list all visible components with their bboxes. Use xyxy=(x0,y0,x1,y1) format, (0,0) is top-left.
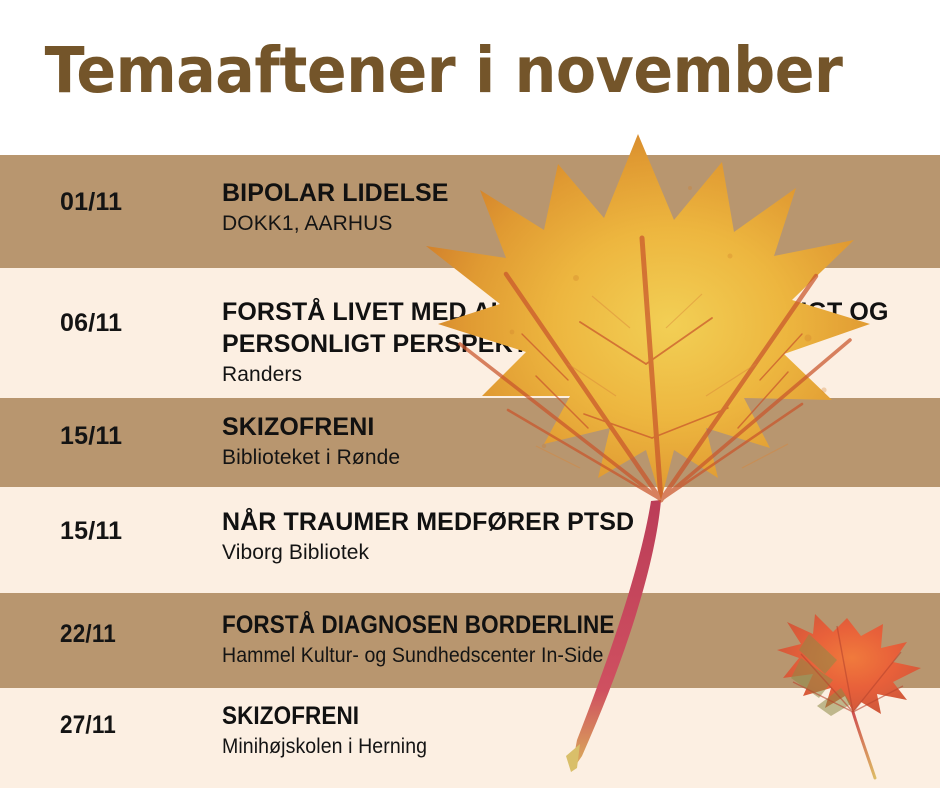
event-date: 15/11 xyxy=(60,422,122,451)
event-title: FORSTÅ LIVET MED AUTISME UD FRA ET FAGLI… xyxy=(222,296,930,360)
event-title: NÅR TRAUMER MEDFØRER PTSD xyxy=(222,506,930,538)
page-title: Temaaftener i november xyxy=(0,39,842,102)
event-body: BIPOLAR LIDELSE DOKK1, AARHUS xyxy=(222,177,930,237)
list-item[interactable]: 06/11 FORSTÅ LIVET MED AUTISME UD FRA ET… xyxy=(0,268,940,398)
event-date: 27/11 xyxy=(60,711,116,740)
event-venue: Minihøjskolen i Herning xyxy=(222,734,880,760)
event-body: NÅR TRAUMER MEDFØRER PTSD Viborg Bibliot… xyxy=(222,506,930,566)
list-item[interactable]: 15/11 NÅR TRAUMER MEDFØRER PTSD Viborg B… xyxy=(0,487,940,593)
event-venue: Biblioteket i Rønde xyxy=(222,445,930,471)
event-body: SKIZOFRENI Minihøjskolen i Herning xyxy=(222,700,930,760)
event-venue: Viborg Bibliotek xyxy=(222,540,930,566)
list-item[interactable]: 15/11 SKIZOFRENI Biblioteket i Rønde xyxy=(0,398,940,487)
poster-canvas: Temaaftener i november 01/11 BIPOLAR LID… xyxy=(0,0,940,788)
event-venue: Randers xyxy=(222,362,930,388)
event-body: FORSTÅ LIVET MED AUTISME UD FRA ET FAGLI… xyxy=(222,296,930,388)
schedule-list: 01/11 BIPOLAR LIDELSE DOKK1, AARHUS 06/1… xyxy=(0,140,940,788)
list-item[interactable]: 27/11 SKIZOFRENI Minihøjskolen i Herning xyxy=(0,688,940,788)
event-date: 06/11 xyxy=(60,309,122,338)
event-date: 22/11 xyxy=(60,620,116,649)
event-venue: DOKK1, AARHUS xyxy=(222,211,930,237)
event-body: FORSTÅ DIAGNOSEN BORDERLINE Hammel Kultu… xyxy=(222,609,930,669)
list-item[interactable]: 01/11 BIPOLAR LIDELSE DOKK1, AARHUS xyxy=(0,155,940,268)
event-date: 15/11 xyxy=(60,517,122,546)
event-date: 01/11 xyxy=(60,188,122,217)
event-title: BIPOLAR LIDELSE xyxy=(222,177,930,209)
event-title: FORSTÅ DIAGNOSEN BORDERLINE xyxy=(222,609,859,641)
event-title: SKIZOFRENI xyxy=(222,411,930,443)
event-title: SKIZOFRENI xyxy=(222,700,859,732)
poster-header: Temaaftener i november xyxy=(0,0,940,140)
event-venue: Hammel Kultur- og Sundhedscenter In-Side xyxy=(222,643,880,669)
event-body: SKIZOFRENI Biblioteket i Rønde xyxy=(222,411,930,471)
list-item[interactable]: 22/11 FORSTÅ DIAGNOSEN BORDERLINE Hammel… xyxy=(0,593,940,688)
